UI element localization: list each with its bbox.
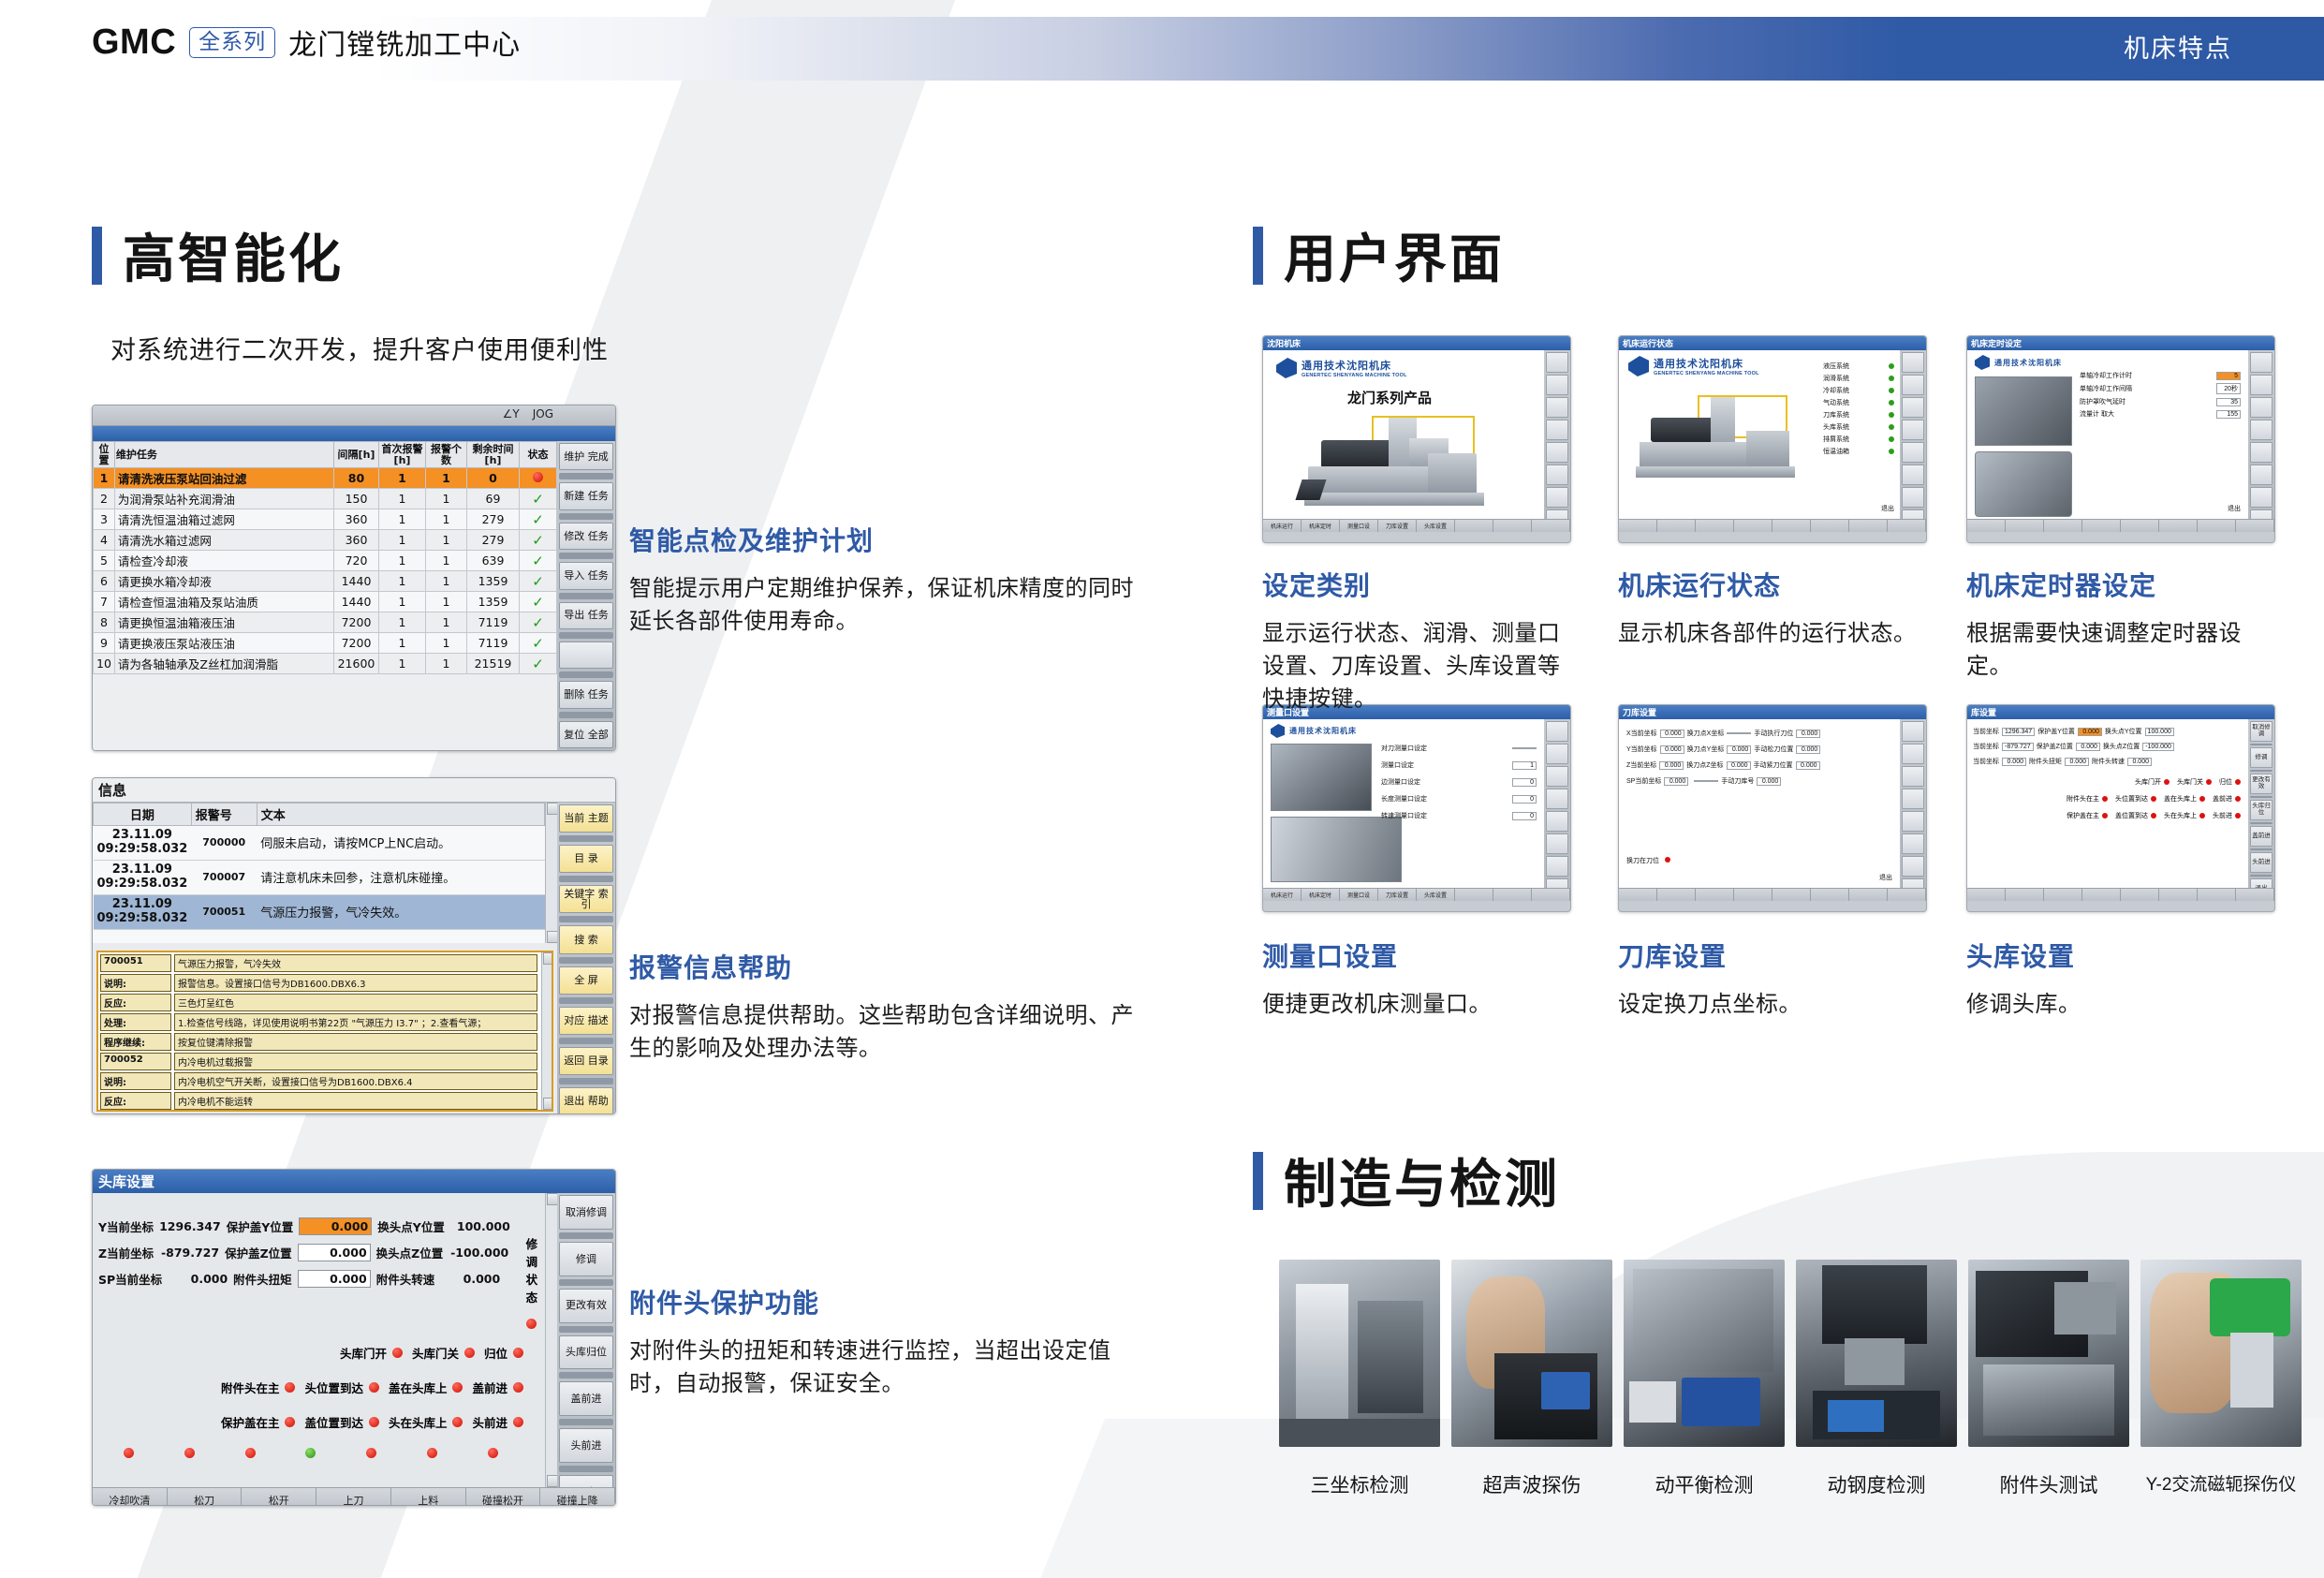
softkey-3[interactable]: 更改有效 [559,1289,613,1323]
led-indicator [285,1417,295,1427]
alarm-table[interactable]: 日期 报警号 文本 23.11.0909:29:58.032700000伺服未启… [93,803,545,930]
softkey-2[interactable]: 目 录 [559,845,613,873]
cell-alarmtext: 伺服未启动，请按MCP上NC启动。 [257,826,544,861]
softkey[interactable] [1902,833,1924,854]
led-item: 头前进 [472,1413,523,1431]
hm-v3[interactable]: -100.000 [2142,743,2174,751]
maintenance-table[interactable]: 位置 维护任务 间隔[h] 首次报警[h] 报警个数 剩余时间[h] 状态 1请… [93,441,557,674]
bottom-key[interactable]: 上料 [391,1488,466,1506]
table-row[interactable]: 1请清洗液压泵站回油过滤80110 [94,468,557,489]
softkey[interactable] [2250,375,2273,395]
tm-v1[interactable]: 0.000 [1660,730,1684,738]
ui-thumb-toolmag[interactable]: 刀库设置 X当前坐标0.000换刀点X坐标手动执行刀位0.000Y当前坐标0.0… [1618,704,1927,912]
col-interval: 间隔[h] [334,442,379,468]
list-item[interactable]: 23.11.0909:29:58.032700051气源压力报警，气冷失效。 [94,894,545,929]
tab[interactable] [2082,520,2121,532]
hm-v1[interactable]: 1296.347 [2002,728,2035,736]
tab[interactable] [2121,889,2159,901]
table-row[interactable]: 9请更换液压泵站液压油7200117119✓ [94,633,557,654]
softkey[interactable] [1546,465,1568,485]
help-key: 说明: [100,1072,171,1090]
photo-balance [1624,1260,1785,1447]
photo-caption-cmm: 三坐标检测 [1279,1470,1440,1498]
ui-thumb-measure-softkeys[interactable] [1544,719,1570,901]
softkey-3[interactable]: 更改有效 [2250,774,2273,794]
genertec-logo-cn-4: 通用技术沈阳机床 [1289,726,1357,736]
softkey[interactable] [1546,487,1568,508]
tm-v2[interactable] [1727,732,1751,734]
maintenance-header-row: 位置 维护任务 间隔[h] 首次报警[h] 报警个数 剩余时间[h] 状态 [94,442,557,468]
softkey-separator [559,1038,613,1044]
tab[interactable] [1967,889,2006,901]
cell-remain: 279 [467,509,520,530]
softkey-separator [2250,770,2273,772]
softkey[interactable] [1902,420,1924,440]
softkey-2[interactable]: 新建 任务 [559,482,613,509]
tab[interactable] [1888,520,1926,532]
photo-magnetic [2140,1260,2302,1447]
tab[interactable] [1849,889,1888,901]
softkey-8[interactable]: 退出 帮助 [559,1087,613,1114]
cell-interval: 150 [334,489,379,509]
ui-thumb-timer-tabs[interactable] [1967,519,2274,532]
softkey[interactable] [1902,397,1924,418]
led-indicator [513,1348,523,1358]
softkey[interactable] [1546,375,1568,395]
hm-v2[interactable]: 0.000 [2076,743,2100,751]
softkey-6[interactable]: 头前进 [559,1428,613,1463]
softkey-1[interactable]: 维护 完成 [559,443,613,470]
tab[interactable] [1619,889,1657,901]
softkey[interactable] [2250,397,2273,418]
tm-v3[interactable]: 0.000 [1757,777,1781,786]
help-key: 处理: [100,1013,171,1031]
tab[interactable] [2236,520,2274,532]
softkey[interactable] [1902,744,1924,764]
cell-datetime: 23.11.0909:29:58.032 [94,860,192,894]
cell-interval: 7200 [334,612,379,633]
tab[interactable] [2159,889,2198,901]
tab[interactable]: 头库设置 [1417,889,1455,901]
hm-v1[interactable]: 0.000 [2002,758,2026,766]
ui-thumb-toolmag-exit[interactable]: 退出 [1879,873,1892,882]
tab[interactable] [2044,520,2082,532]
ui-thumb-runstate-softkeys[interactable] [1900,350,1926,532]
section-title-ui: 用户界面 [1253,217,1505,293]
maintenance-softkey-bar[interactable]: 维护 完成新建 任务修改 任务导入 任务导出 任务删除 任务复位 全部 [557,441,615,750]
tm-v3[interactable]: 0.000 [1796,761,1820,770]
led-item: 头在头库上 [2164,811,2205,820]
hm-label: 当前坐标 [1973,727,1999,736]
tab[interactable] [2198,889,2236,901]
cell-first: 1 [379,468,426,489]
tab[interactable] [1657,889,1696,901]
tab[interactable] [1772,520,1811,532]
tab[interactable] [1967,520,2006,532]
tab[interactable] [2082,889,2121,901]
tab[interactable] [1811,520,1849,532]
led-label: 盖在头库上 [2164,794,2197,804]
status-label: 排屑系统 [1823,435,1849,444]
tab[interactable] [1696,889,1734,901]
screenshot-headstore[interactable]: 头库设置 Y当前坐标1296.347保护盖Y位置0.000换头点Y位置100.0… [92,1169,616,1506]
led-indicator [513,1417,523,1427]
tab[interactable] [1493,889,1532,901]
softkey-1[interactable]: 取消修调 [2250,721,2273,742]
tab[interactable] [1772,889,1811,901]
ui-thumb-category[interactable]: 沈阳机床 通用技术沈阳机床 GENERTEC SHENYANG MACHINE … [1262,335,1571,543]
list-item[interactable]: 23.11.0909:29:58.032700000伺服未启动，请按MCP上NC… [94,826,545,861]
genertec-logo-cn-3: 通用技术沈阳机床 [1994,358,2062,368]
softkey[interactable] [1902,465,1924,485]
measure-value[interactable] [1512,747,1537,749]
led-item: 头前进 [2213,811,2241,820]
softkey[interactable] [1546,420,1568,440]
tab[interactable]: 刀库设置 [1378,889,1417,901]
table-row[interactable]: 6请更换水箱冷却液1440111359✓ [94,571,557,592]
softkey-5[interactable]: 盖前进 [2250,826,2273,847]
status-row: 恒温油箱 [1823,447,1894,456]
status-row: 气动系统 [1823,398,1894,407]
timer-row: 单轴冷却工作间隔20秒 [2080,383,2241,394]
tm-v3[interactable]: 0.000 [1796,730,1820,738]
help-row: 700052内冷电机过载报警 [100,1053,537,1070]
table-row[interactable]: 5请检查冷却液72011639✓ [94,551,557,571]
softkey-separator [559,553,613,559]
tab[interactable]: 机床定时 [1302,889,1340,901]
ui-thumb-toolmag-tabs[interactable] [1619,888,1926,901]
tab[interactable] [1455,889,1493,901]
softkey[interactable] [1902,352,1924,373]
tab[interactable]: 测量口设 [1340,889,1378,901]
led-label: 盖前进 [2213,794,2232,804]
caption-headmag-title: 头库设置 [1966,936,2275,974]
softkey[interactable] [1902,856,1924,877]
softkey[interactable] [1546,811,1568,832]
cell-count: 1 [426,489,467,509]
help-value: 气源压力报警，气冷失效 [174,954,537,972]
table-row[interactable]: 10请为各轴轴承及Z丝杠加润滑脂216001121519✓ [94,654,557,674]
cell-status: ✓ [520,509,557,530]
ui-thumb-headmag-softkeys[interactable]: 取消修调修调更改有效头库归位盖前进头前进退出 [2248,719,2274,901]
list-item[interactable]: 23.11.0909:29:58.032700007请注意机床未回参，注意机床碰… [94,860,545,894]
softkey-7[interactable]: 删除 任务 [559,681,613,708]
cell-task: 请更换液压泵站液压油 [114,633,333,654]
field-label-3: 换头点Y位置 [377,1217,445,1235]
tab[interactable] [1619,520,1657,532]
alarm-window-title: 信息 [93,778,615,803]
tab[interactable]: 刀库设置 [1378,520,1417,532]
led-item: 盖位置到达 [304,1413,379,1431]
softkey-6[interactable] [559,642,613,669]
table-row[interactable]: 3请清洗恒温油箱过滤网36011279✓ [94,509,557,530]
softkey-5[interactable]: 全 屏 [559,966,613,995]
softkey[interactable] [1546,833,1568,854]
hm-l3: 附件头转速 [2092,757,2125,766]
table-row[interactable]: 8请更换恒温油箱液压油7200117119✓ [94,612,557,633]
softkey-6[interactable]: 头前进 [2250,852,2273,873]
cell-first: 1 [379,551,426,571]
softkey[interactable] [2250,442,2273,463]
help-value: 内冷电机过载报警 [174,1053,537,1070]
hm-v1[interactable]: -879.727 [2002,743,2034,751]
ui-thumb-timer-exit[interactable]: 退出 [2228,504,2241,513]
cell-remain: 69 [467,489,520,509]
caption-toolmag-body: 设定换刀点坐标。 [1618,989,1927,1022]
headstore-scrollbar[interactable] [545,1193,557,1487]
ui-thumb-measure-tabs[interactable]: 机床运行机床定时测量口设刀库设置头库设置 [1263,888,1570,901]
softkey-7[interactable]: 返回 目录 [559,1047,613,1075]
softkey[interactable] [1902,721,1924,742]
timer-value[interactable]: 155 [2216,410,2241,419]
softkey-2[interactable]: 修调 [2250,747,2273,768]
ui-thumb-timer[interactable]: 机床定时设定 通用技术沈阳机床 单轴冷却工作计时5单轴冷却工作间隔20秒防护罩吹… [1966,335,2275,543]
caption-measure-body: 便捷更改机床测量口。 [1262,989,1571,1022]
led-item: 头库门开 [340,1344,403,1362]
softkey-4[interactable]: 头库归位 [559,1335,613,1370]
softkey-3[interactable]: 修改 任务 [559,523,613,550]
softkey[interactable] [1902,487,1924,508]
led-item: 盖在头库上 [2164,794,2205,804]
caption-category: 设定类别 显示运行状态、润滑、测量口设置、刀库设置、头库设置等快捷按键。 [1262,566,1571,715]
tm-l3: 手动刀库号 [1721,776,1754,786]
col-first-alarm: 首次报警[h] [379,442,426,468]
measure-value[interactable]: 0 [1512,795,1537,804]
ui-thumb-runstate[interactable]: 机床运行状态 通用技术沈阳机床 GENERTEC SHENYANG MACHIN… [1618,335,1927,543]
tab[interactable] [1532,520,1570,532]
caption-headprotect-body: 对附件头的扭矩和转速进行监控，当超出设定值时，自动报警，保证安全。 [629,1335,1154,1401]
brand-logo: GMC [92,22,176,63]
led-indicator [2235,796,2241,802]
tab[interactable] [2044,889,2082,901]
tab[interactable] [1811,889,1849,901]
led-indicator [452,1382,463,1393]
table-row[interactable]: 4请清洗水箱过滤网36011279✓ [94,530,557,551]
softkey-8[interactable]: 复位 全部 [559,721,613,748]
measure-value[interactable]: 0 [1512,778,1537,787]
ui-thumb-timer-softkeys[interactable] [2248,350,2274,532]
softkey-separator [559,997,613,1004]
cell-first: 1 [379,530,426,551]
ui-thumb-headmag[interactable]: 库设置 当前坐标1296.347保护盖Y位置0.000换头点Y位置100.000… [1966,704,2275,912]
led-label: 盖位置到达 [2115,811,2148,820]
softkey-6[interactable]: 对应 描述 [559,1007,613,1035]
softkey[interactable] [1546,442,1568,463]
cell-status: ✓ [520,592,557,612]
status-ok-icon: ✓ [532,635,544,652]
headstore-softkey-bar[interactable]: 取消修调修调更改有效头库归位盖前进头前进退出 [557,1193,615,1506]
field-input-2[interactable]: 0.000 [298,1270,371,1288]
softkey-separator [2250,848,2273,850]
hm-v2[interactable]: 0.000 [2078,728,2102,736]
measure-row: 转速测量口设定0 [1381,811,1537,820]
tab[interactable] [2121,520,2159,532]
softkey-4[interactable]: 搜 索 [559,925,613,953]
help-value: 内冷电机空气开关断，设置接口信号为DB1600.DBX6.4 [174,1072,537,1090]
alarm-softkey-bar[interactable]: 当前 主题目 录关键字 索引搜 索全 屏对应 描述返回 目录退出 帮助 [557,803,615,1114]
bottom-key[interactable]: 松开 [242,1488,316,1506]
tm-v1[interactable]: 0.000 [1660,745,1684,754]
tab[interactable] [2006,520,2044,532]
bottom-key[interactable]: 碰撞松开 [466,1488,541,1506]
tab[interactable]: 机床运行 [1263,520,1302,532]
field-input-2[interactable]: 0.000 [299,1217,372,1235]
caption-maintenance-body: 智能提示用户定期维护保养，保证机床精度的同时延长各部件使用寿命。 [629,573,1135,639]
tab[interactable] [1657,520,1696,532]
led-item: 保护盖在主 [2067,811,2108,820]
cell-no: 1 [94,468,115,489]
tab[interactable] [1493,520,1532,532]
softkey-4[interactable]: 导入 任务 [559,562,613,589]
cell-count: 1 [426,612,467,633]
headstore-bottom-bar[interactable]: 冷却吹清松刀松开上刀上料碰撞松开碰撞上降 [93,1487,615,1506]
softkey[interactable] [2250,352,2273,373]
cell-first: 1 [379,592,426,612]
softkey[interactable] [1546,721,1568,742]
ui-thumb-measure[interactable]: 测量口设置 通用技术沈阳机床 对刀测量口设定测量口设定1边测量口设定0长度测量口… [1262,704,1571,912]
tm-v1[interactable]: 0.000 [1659,761,1684,770]
tm-v3[interactable]: 0.000 [1796,745,1820,754]
ui-thumb-category-tabs[interactable]: 机床运行机床定时测量口设刀库设置头库设置 [1263,519,1570,532]
headstore-status-label: 修调状态 [522,1234,542,1305]
status-label: 恒温油箱 [1823,447,1849,456]
ui-thumb-category-canvas: 通用技术沈阳机床 GENERTEC SHENYANG MACHINE TOOL … [1263,350,1570,532]
ui-thumb-headmag-tabs[interactable] [1967,888,2274,901]
tab[interactable] [2236,889,2274,901]
help-row: 说明:内冷电机空气开关断，设置接口信号为DB1600.DBX6.4 [100,1072,537,1090]
ui-thumb-runstate-exit[interactable]: 退出 [1881,504,1894,513]
tab[interactable]: 机床运行 [1263,889,1302,901]
tab[interactable] [2006,889,2044,901]
status-ok-icon: ✓ [532,594,544,611]
poster-page: GMC 全系列 龙门镗铣加工中心 机床特点 高智能化 对系统进行二次开发，提升客… [0,0,2324,1578]
help-scrollbar[interactable] [541,952,552,1110]
tab[interactable] [1888,889,1926,901]
softkey[interactable] [1902,811,1924,832]
tm-l3: 手动执行刀位 [1754,729,1793,738]
led-item: 头库门关 [2177,777,2212,787]
timer-value[interactable]: 35 [2216,398,2241,406]
softkey[interactable] [2250,465,2273,485]
hm-v3[interactable]: 100.000 [2145,728,2174,736]
measure-label: 转速测量口设定 [1381,811,1427,820]
cell-count: 1 [426,551,467,571]
tab[interactable] [1455,520,1493,532]
softkey-4[interactable]: 头库归位 [2250,800,2273,820]
tm-label: SP当前坐标 [1626,776,1661,786]
led-label: 头位置到达 [2115,794,2148,804]
field-value-3: 100.000 [450,1219,510,1233]
ui-thumb-runstate-tabs[interactable] [1619,519,1926,532]
col-position: 位置 [94,442,115,468]
softkey-3[interactable]: 关键字 索引 [559,885,613,913]
softkey-1[interactable]: 取消修调 [559,1195,613,1230]
tm-label: Z当前坐标 [1626,760,1656,770]
measure-value[interactable]: 1 [1512,761,1537,770]
tm-v1[interactable]: 0.000 [1664,777,1688,786]
softkey[interactable] [1546,744,1568,764]
softkey[interactable] [1546,789,1568,809]
softkey[interactable] [1902,789,1924,809]
screenshot-maintenance[interactable]: ∠Υ JOG 位置 维护任务 间隔[h] 首次报警[h] 报警个数 剩余时间[h… [92,405,616,751]
headstore-window-title: 头库设置 [93,1170,615,1193]
softkey[interactable] [1546,856,1568,877]
cell-remain: 639 [467,551,520,571]
status-led [245,1448,256,1458]
tab[interactable]: 机床定时 [1302,520,1340,532]
ui-thumb-category-softkeys[interactable] [1544,350,1570,532]
hm-v3[interactable]: 0.000 [2127,758,2152,766]
bottom-key[interactable]: 碰撞上降 [540,1488,615,1506]
bottom-key[interactable]: 冷却吹清 [93,1488,168,1506]
cell-no: 10 [94,654,115,674]
caption-timer-body: 根据需要快速调整定时器设定。 [1966,618,2285,684]
ui-thumb-headmag-canvas: 当前坐标1296.347保护盖Y位置0.000换头点Y位置100.000当前坐标… [1967,719,2274,901]
hm-l2: 保护盖Z位置 [2037,742,2073,751]
softkey[interactable] [1546,397,1568,418]
softkey[interactable] [1546,766,1568,787]
softkey[interactable] [2250,487,2273,508]
softkey[interactable] [1902,766,1924,787]
alarm-scrollbar[interactable] [545,803,557,943]
tab[interactable] [1532,889,1570,901]
tab[interactable] [1734,889,1772,901]
softkey[interactable] [1546,352,1568,373]
hm-v2[interactable]: 0.000 [2065,758,2089,766]
softkey[interactable] [1902,375,1924,395]
tab[interactable] [2198,520,2236,532]
tm-v2[interactable]: 0.000 [1727,761,1751,770]
tab[interactable]: 测量口设 [1340,520,1378,532]
softkey-1[interactable]: 当前 主题 [559,804,613,833]
help-key: 程序继续: [100,1033,171,1051]
ui-thumb-runstate-title: 机床运行状态 [1619,336,1926,350]
ui-thumb-toolmag-softkeys[interactable] [1900,719,1926,901]
softkey-5[interactable]: 导出 任务 [559,602,613,629]
cell-status: ✓ [520,489,557,509]
cell-first: 1 [379,509,426,530]
tab[interactable] [1734,520,1772,532]
tab[interactable] [1849,520,1888,532]
screenshot-alarm-help[interactable]: 信息 日期 报警号 文本 23.11.0909:29:58.032700000伺… [92,777,616,1114]
cell-status [520,468,557,489]
field-input-2[interactable]: 0.000 [298,1244,371,1261]
cell-task: 请检查冷却液 [114,551,333,571]
tab[interactable] [1696,520,1734,532]
table-row[interactable]: 7请检查恒温油箱及泵站油质1440111359✓ [94,592,557,612]
softkey[interactable] [1902,442,1924,463]
bottom-key[interactable]: 上刀 [316,1488,391,1506]
softkey-2[interactable]: 修调 [559,1242,613,1276]
table-row[interactable]: 2为润滑泵站补充润滑油1501169✓ [94,489,557,509]
tm-label: X当前坐标 [1626,729,1657,738]
softkey-5[interactable]: 盖前进 [559,1381,613,1416]
genertec-mark-icon-3 [1975,355,1990,370]
tm-v2[interactable]: 0.000 [1727,745,1751,754]
softkey-separator [559,1419,613,1425]
timer-value[interactable]: 5 [2216,372,2241,380]
tm-v2[interactable] [1694,780,1718,782]
led-label: 头在头库上 [2164,811,2197,820]
timer-value[interactable]: 20秒 [2216,383,2241,394]
measure-value[interactable]: 0 [1512,812,1537,820]
caption-headmag-body: 修调头库。 [1966,989,2275,1022]
softkey-separator [2250,822,2273,824]
softkey[interactable] [2250,420,2273,440]
tab[interactable]: 头库设置 [1417,520,1455,532]
tab[interactable] [2159,520,2198,532]
bottom-key[interactable]: 松刀 [168,1488,243,1506]
